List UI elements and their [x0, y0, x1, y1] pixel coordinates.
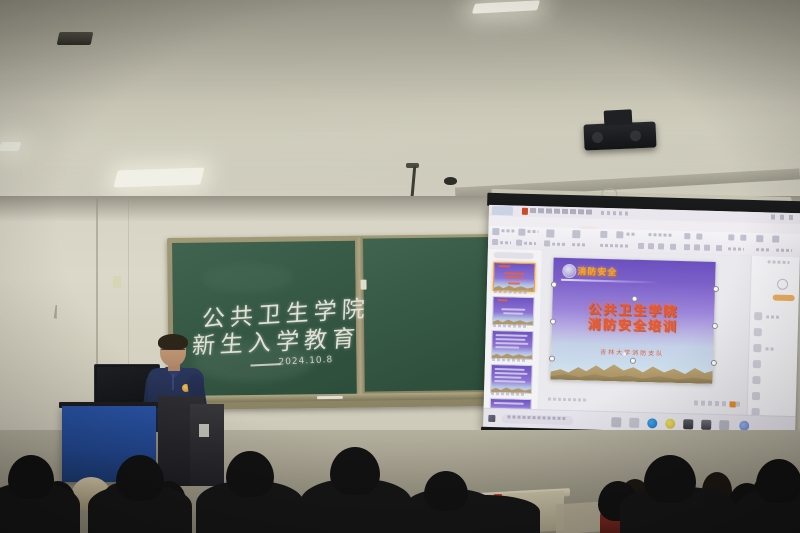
thumb-line [495, 342, 528, 345]
pane-icon-animation[interactable] [752, 392, 760, 400]
slide-thumbnail-pane[interactable] [484, 249, 543, 410]
slide-logo-icon [562, 264, 576, 278]
design-task-pane[interactable] [746, 256, 799, 417]
projection-screen: 消防安全 公共卫生学院 消防安全培训 吉林大学消防支队 [483, 195, 800, 448]
new-slide-icon[interactable] [518, 229, 525, 236]
projector-mount [604, 109, 633, 125]
dome-camera [444, 177, 457, 185]
slide-thumbnail-1[interactable] [493, 262, 536, 292]
ribbon-label [776, 249, 792, 252]
ribbon-label [501, 229, 514, 232]
thumbnail-caption [491, 392, 525, 396]
ribbon-label [527, 230, 538, 233]
thumb-line [495, 372, 528, 375]
wps-icon[interactable] [665, 419, 675, 429]
slide-title-line2: 消防安全培训 [552, 317, 714, 336]
presenter-hair [158, 334, 188, 350]
pane-label [766, 315, 780, 318]
thumbnail-caption [494, 290, 528, 294]
text-box-icon[interactable] [600, 231, 607, 238]
thumb-line [494, 402, 524, 405]
wall-sticker [113, 276, 121, 288]
slide-thumbnail-4[interactable] [490, 364, 533, 394]
ribbon-label [524, 242, 536, 245]
font-name-box[interactable] [600, 244, 630, 248]
underline-icon[interactable] [658, 243, 664, 249]
current-slide[interactable]: 消防安全 公共卫生学院 消防安全培训 吉林大学消防支队 [550, 258, 715, 384]
font-color-icon[interactable] [670, 244, 676, 250]
section-icon[interactable] [572, 230, 580, 238]
layout-icon[interactable] [546, 229, 554, 237]
ribbon-label [756, 248, 770, 251]
slide-title[interactable]: 公共卫生学院 消防安全培训 [552, 302, 715, 336]
thumb-subtitle [508, 282, 520, 284]
cut-icon[interactable] [492, 239, 498, 245]
ceiling-light-panel [113, 168, 204, 188]
slide-brand-text: 消防安全 [577, 264, 617, 278]
task-view-icon[interactable] [629, 418, 639, 428]
format-painter-icon[interactable] [544, 240, 550, 246]
zoom-control[interactable] [730, 401, 736, 407]
thumbnail-caption [493, 324, 527, 328]
thumb-line [503, 312, 523, 315]
thumb-line [496, 334, 528, 337]
slide-editing-area[interactable]: 消防安全 公共卫生学院 消防安全培训 吉林大学消防支队 [538, 250, 752, 416]
podium: 吉林大学 [62, 406, 156, 482]
pane-icon-table[interactable] [752, 376, 760, 384]
pane-icon-text[interactable] [754, 312, 762, 320]
thumb-line [495, 368, 525, 371]
ribbon-label [552, 243, 566, 246]
settings-icon[interactable] [611, 417, 621, 427]
copy-icon[interactable] [516, 240, 522, 246]
slide-header-rule [561, 279, 659, 283]
thumb-line [495, 338, 525, 341]
numbering-icon[interactable] [696, 233, 702, 239]
mail-icon[interactable] [701, 420, 711, 430]
bullets-icon[interactable] [684, 233, 690, 239]
pane-icon-chart[interactable] [753, 360, 761, 368]
ceiling-projector [583, 121, 656, 150]
thumb-line [494, 380, 525, 383]
thumb-brand [497, 299, 507, 301]
task-pane-action-button[interactable] [773, 295, 795, 302]
document-title-text [530, 208, 594, 215]
ribbon-label [500, 241, 511, 244]
find-icon[interactable] [756, 235, 763, 242]
slide-subtitle[interactable]: 吉林大学消防支队 [551, 346, 713, 359]
presentation-file-icon [522, 208, 528, 215]
thumb-title [504, 272, 524, 275]
ceiling-speaker [57, 32, 94, 45]
line-spacing-icon[interactable] [716, 245, 722, 251]
glasses-icon [161, 349, 185, 355]
edge-icon[interactable] [647, 418, 657, 428]
quick-access-toolbar[interactable] [601, 211, 629, 216]
projector-vent [630, 130, 641, 141]
align-right-icon[interactable] [704, 245, 710, 251]
slide-star-dot [623, 353, 626, 356]
align-left-icon[interactable] [684, 244, 690, 250]
windows-start-button[interactable] [488, 415, 495, 422]
thumb-line [494, 376, 521, 379]
presenter-placket [172, 374, 174, 390]
blackboard-latch [360, 280, 366, 290]
projected-desktop: 消防安全 公共卫生学院 消防安全培训 吉林大学消防支队 [483, 205, 800, 437]
notes-placeholder[interactable] [548, 397, 588, 401]
ribbon-label [728, 247, 744, 250]
thumbnail-pane-header [494, 252, 534, 259]
task-pane-preview-icon[interactable] [777, 279, 788, 290]
replace-icon[interactable] [772, 235, 779, 242]
thumb-title [505, 276, 523, 278]
av-cabinet-secondary [190, 404, 224, 486]
task-pane-title [768, 260, 790, 264]
projector-lens [592, 132, 603, 143]
thumb-line [501, 308, 525, 311]
font-size-box[interactable] [648, 233, 672, 237]
phone-link-icon[interactable] [719, 420, 729, 430]
pane-label [765, 347, 775, 350]
cabinet-label [199, 424, 209, 437]
arrange-icon[interactable] [728, 234, 734, 240]
blackboard-panel-right [362, 237, 494, 392]
camera-icon[interactable] [683, 419, 693, 429]
thumbnail-caption [492, 358, 526, 362]
align-center-icon[interactable] [694, 244, 700, 250]
pane-icon-shape[interactable] [753, 344, 761, 352]
italic-icon[interactable] [648, 243, 654, 249]
bold-icon[interactable] [638, 243, 644, 249]
slide-thumbnail-2[interactable] [492, 296, 535, 326]
shape-icon[interactable] [616, 231, 623, 238]
pane-icon-image[interactable] [754, 328, 762, 336]
app-document-tab[interactable] [492, 206, 513, 216]
chalk-stick [317, 396, 343, 399]
slide-thumbnail-3[interactable] [491, 330, 534, 360]
thumb-line [495, 346, 519, 349]
lecture-hall-photo: 公共卫生学院 新生入学教育 2024.10.8 [0, 0, 800, 533]
ribbon-label [572, 243, 586, 246]
paste-icon[interactable] [492, 228, 499, 235]
thumb-brand [498, 265, 510, 267]
window-controls[interactable] [771, 214, 797, 220]
quick-styles-icon[interactable] [740, 235, 746, 241]
chalk-smudge [202, 263, 292, 292]
blackboard: 公共卫生学院 新生入学教育 2024.10.8 [167, 234, 499, 410]
ceiling-light-panel [0, 142, 21, 151]
ribbon-label [626, 233, 636, 236]
